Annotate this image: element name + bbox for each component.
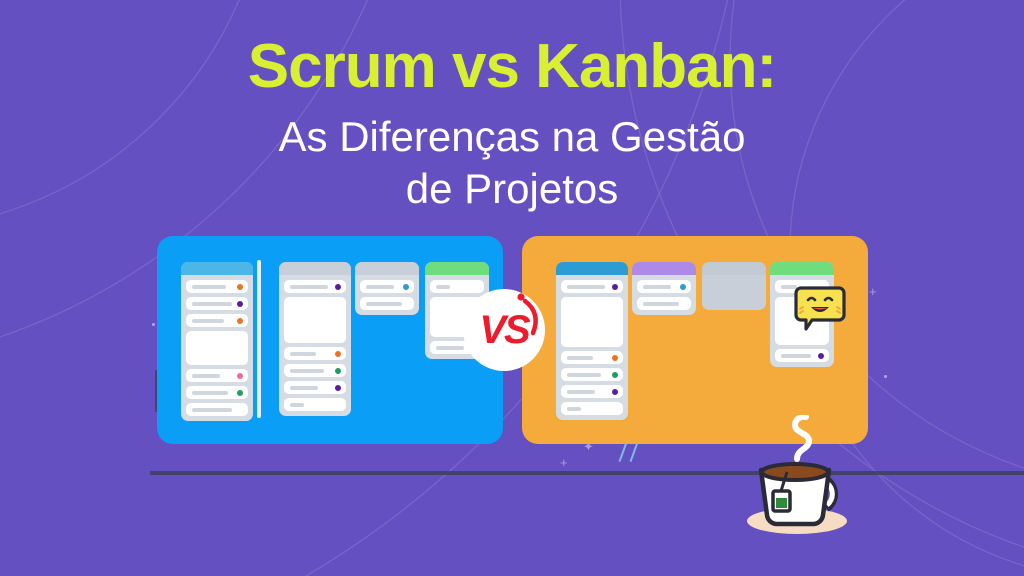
coffee-cup-icon bbox=[735, 415, 865, 540]
card-row[interactable] bbox=[186, 369, 248, 382]
card-row[interactable] bbox=[186, 314, 248, 327]
scrum-board[interactable] bbox=[157, 236, 503, 444]
column-header bbox=[425, 262, 489, 275]
scrum-column-sprint-todo[interactable] bbox=[279, 262, 351, 416]
poster-canvas: + + ✦ Scrum vs Kanban: As Diferenças na … bbox=[0, 0, 1024, 576]
card-row[interactable] bbox=[284, 347, 346, 360]
card-row[interactable] bbox=[775, 349, 829, 362]
headline-block: Scrum vs Kanban: As Diferenças na Gestão… bbox=[0, 34, 1024, 216]
vs-swoosh-icon bbox=[513, 293, 549, 339]
column-header bbox=[355, 262, 419, 275]
decor-dot bbox=[884, 375, 887, 378]
page-subtitle: As Diferenças na Gestão de Projetos bbox=[0, 111, 1024, 216]
column-header bbox=[279, 262, 351, 275]
card-row[interactable] bbox=[284, 381, 346, 394]
card-block[interactable] bbox=[561, 297, 623, 347]
card-row[interactable] bbox=[637, 280, 691, 293]
sprint-divider bbox=[257, 260, 261, 418]
card-row[interactable] bbox=[561, 385, 623, 398]
card-row[interactable] bbox=[561, 368, 623, 381]
card-row[interactable] bbox=[360, 297, 414, 310]
scrum-column-backlog[interactable] bbox=[181, 262, 253, 421]
card-row[interactable] bbox=[284, 364, 346, 377]
card-row[interactable] bbox=[186, 280, 248, 293]
decor-dot bbox=[152, 323, 155, 326]
kanban-column-doing[interactable] bbox=[702, 262, 766, 310]
card-row[interactable] bbox=[284, 398, 346, 411]
card-row[interactable] bbox=[284, 280, 346, 293]
card-block[interactable] bbox=[284, 297, 346, 343]
column-header bbox=[181, 262, 253, 275]
card-row[interactable] bbox=[561, 280, 623, 293]
decor-plus-icon: + bbox=[560, 456, 568, 469]
page-subtitle-line-1: As Diferenças na Gestão bbox=[0, 111, 1024, 164]
card-row[interactable] bbox=[186, 297, 248, 310]
column-header bbox=[702, 262, 766, 275]
decor-plus-icon: + bbox=[869, 285, 877, 298]
kanban-column-backlog[interactable] bbox=[556, 262, 628, 420]
column-header bbox=[770, 262, 834, 275]
kanban-board[interactable] bbox=[522, 236, 868, 444]
card-row[interactable] bbox=[186, 386, 248, 399]
smiley-speech-bubble-icon bbox=[794, 286, 846, 334]
card-row[interactable] bbox=[561, 351, 623, 364]
card-row[interactable] bbox=[186, 403, 248, 416]
page-subtitle-line-2: de Projetos bbox=[0, 163, 1024, 216]
kanban-column-todo[interactable] bbox=[632, 262, 696, 315]
baseline-rule bbox=[150, 471, 1024, 475]
card-row[interactable] bbox=[360, 280, 414, 293]
card-row[interactable] bbox=[637, 297, 691, 310]
vs-badge: VS bbox=[463, 289, 545, 371]
column-header bbox=[556, 262, 628, 275]
card-row[interactable] bbox=[561, 402, 623, 415]
card-block[interactable] bbox=[186, 331, 248, 365]
card-row[interactable] bbox=[430, 280, 484, 293]
column-header bbox=[632, 262, 696, 275]
scrum-column-sprint-doing[interactable] bbox=[355, 262, 419, 315]
page-title: Scrum vs Kanban: bbox=[0, 34, 1024, 101]
